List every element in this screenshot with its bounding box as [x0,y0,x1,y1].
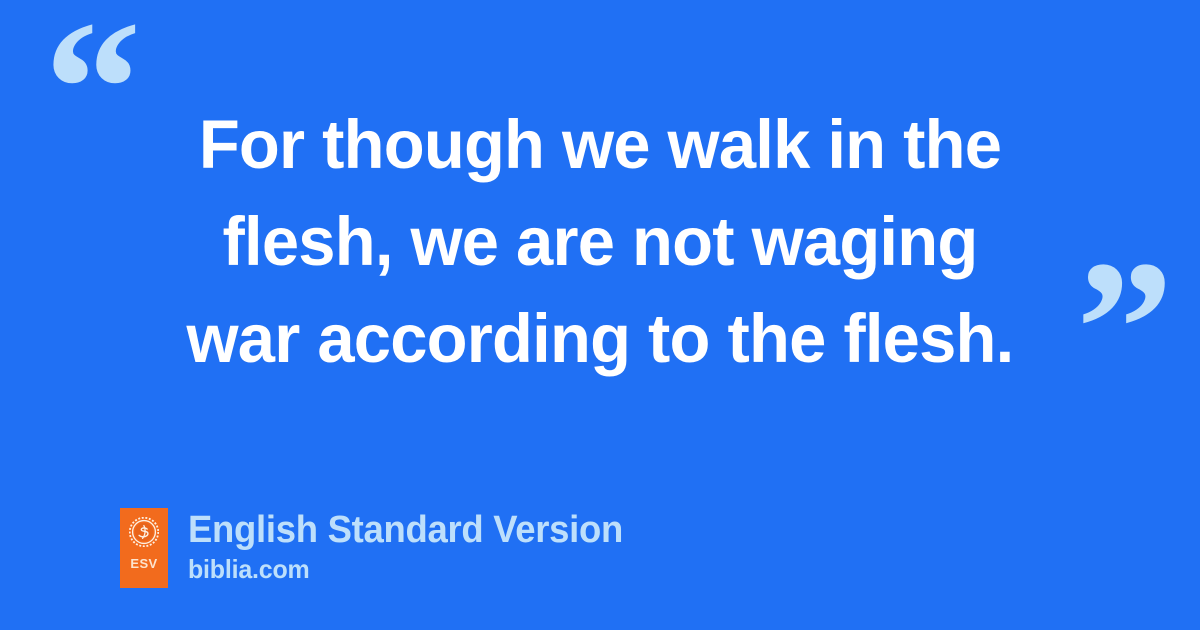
attribution: ESV English Standard Version biblia.com [120,508,641,588]
closing-quote-icon: ” [1076,232,1174,427]
attribution-text: English Standard Version biblia.com [188,508,641,584]
bible-version-name: English Standard Version [188,508,623,552]
verse-line-1: For though we walk in the [125,96,1076,193]
esv-logo-tile: ESV [120,508,168,588]
esv-logo-label: ESV [130,557,157,570]
verse-text-block: For though we walk in the flesh, we are … [0,96,1200,387]
verse-line-2: flesh, we are not waging [125,193,1076,290]
esv-seal-icon [129,517,159,547]
verse-line-3: war according to the flesh. [125,290,1076,387]
site-name: biblia.com [188,554,623,584]
verse-share-card: “ For though we walk in the flesh, we ar… [0,0,1200,630]
